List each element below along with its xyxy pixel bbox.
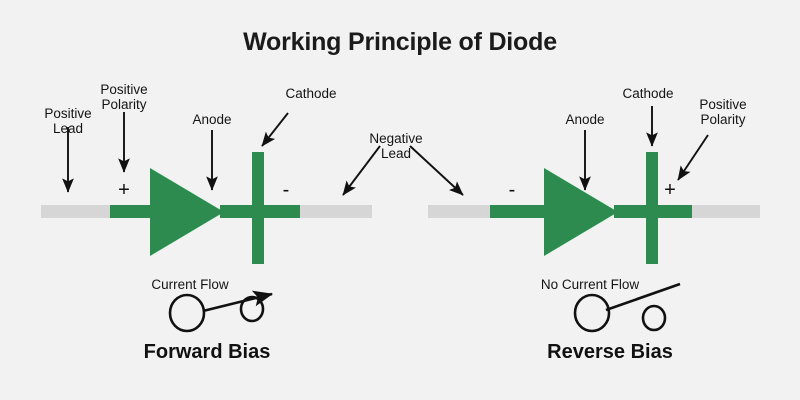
no-current-flow-small-circle [643,306,665,330]
caption-forward-bias: Forward Bias [144,341,271,364]
reverse-bias-diode-symbol [428,152,760,264]
sign-negative-forward: - [283,180,290,200]
forward-cathode-bar [252,152,264,264]
page-title: Working Principle of Diode [0,28,800,57]
sign-negative-reverse: - [509,180,516,200]
forward-right-green-lead [264,205,301,218]
reverse-right-gray-lead [692,205,760,218]
label-no-current-flow: No Current Flow [541,277,639,292]
sign-positive-reverse: + [664,180,676,200]
label-positive-polarity-reverse: Positive Polarity [699,97,746,127]
label-anode-forward: Anode [192,112,231,127]
forward-right-gray-lead [300,205,372,218]
label-positive-lead: Positive Lead [44,106,91,136]
label-negative-lead: Negative Lead [369,131,422,161]
reverse-anode-triangle [544,168,618,256]
current-flow-large-circle [170,295,204,331]
diagram-canvas: Working Principle of Diode Positive Lead… [0,0,800,400]
forward-bias-diode-symbol [41,152,372,264]
no-current-flow-large-circle [575,295,609,331]
reverse-right-green-lead [658,205,694,218]
label-anode-reverse: Anode [565,112,604,127]
arrow-cathode [262,113,288,146]
reverse-left-gray-lead [428,205,490,218]
sign-positive-forward: + [118,180,130,200]
current-flow-glyph [170,294,272,331]
label-cathode-reverse: Cathode [622,86,673,101]
arrow-positive-polarity-reverse [678,135,708,180]
label-positive-polarity: Positive Polarity [100,82,147,112]
label-cathode-forward: Cathode [285,86,336,101]
reverse-left-green-lead [490,205,546,218]
caption-reverse-bias: Reverse Bias [547,341,673,364]
label-current-flow: Current Flow [151,277,228,292]
forward-left-gray-lead [41,205,110,218]
forward-left-green-lead [110,205,155,218]
reverse-cathode-bar [646,152,658,264]
